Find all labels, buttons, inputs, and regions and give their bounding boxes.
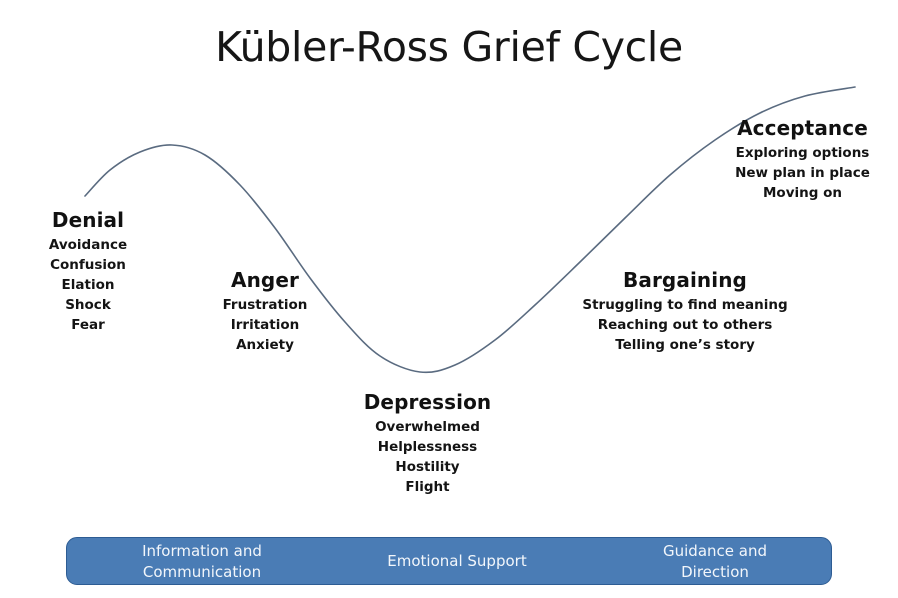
stage-anger-title: Anger (185, 270, 345, 290)
stage-bargaining-title: Bargaining (570, 270, 800, 290)
stage-item: Flight (340, 478, 515, 498)
support-segment-line: Direction (663, 562, 767, 583)
support-segment-line: Emotional Support (387, 551, 526, 572)
stage-item: Frustration (185, 296, 345, 316)
support-segment-emotional-support: Emotional Support (342, 538, 572, 586)
stage-item: Shock (8, 296, 168, 316)
support-segment-line: Guidance and (663, 541, 767, 562)
page-title: Kübler-Ross Grief Cycle (0, 24, 898, 71)
stage-acceptance-items: Exploring optionsNew plan in placeMoving… (710, 144, 895, 204)
stage-bargaining: Bargaining Struggling to find meaningRea… (570, 270, 800, 356)
stage-item: Anxiety (185, 336, 345, 356)
stage-acceptance: Acceptance Exploring optionsNew plan in … (710, 118, 895, 204)
stage-item: Reaching out to others (570, 316, 800, 336)
support-segment-label: Information andCommunication (142, 541, 262, 584)
support-segment-line: Information and (142, 541, 262, 562)
stage-item: Overwhelmed (340, 418, 515, 438)
stage-denial-items: AvoidanceConfusionElationShockFear (8, 236, 168, 336)
stage-depression: Depression OverwhelmedHelplessnessHostil… (340, 392, 515, 498)
support-segment-label: Emotional Support (387, 551, 526, 572)
support-segment-label: Guidance andDirection (663, 541, 767, 584)
stage-item: Irritation (185, 316, 345, 336)
support-bar: Information andCommunication Emotional S… (66, 537, 832, 585)
stage-item: New plan in place (710, 164, 895, 184)
stage-item: Avoidance (8, 236, 168, 256)
stage-item: Telling one’s story (570, 336, 800, 356)
support-segment-guidance-and-direction: Guidance andDirection (615, 538, 815, 586)
stage-depression-items: OverwhelmedHelplessnessHostilityFlight (340, 418, 515, 498)
support-segment-information-and-communication: Information andCommunication (87, 538, 317, 586)
stage-item: Confusion (8, 256, 168, 276)
stage-item: Exploring options (710, 144, 895, 164)
stage-item: Helplessness (340, 438, 515, 458)
stage-item: Struggling to find meaning (570, 296, 800, 316)
stage-item: Hostility (340, 458, 515, 478)
stage-item: Moving on (710, 184, 895, 204)
stage-depression-title: Depression (340, 392, 515, 412)
stage-item: Fear (8, 316, 168, 336)
stage-denial: Denial AvoidanceConfusionElationShockFea… (8, 210, 168, 336)
stage-anger: Anger FrustrationIrritationAnxiety (185, 270, 345, 356)
stage-acceptance-title: Acceptance (710, 118, 895, 138)
stage-item: Elation (8, 276, 168, 296)
support-segment-line: Communication (142, 562, 262, 583)
stage-denial-title: Denial (8, 210, 168, 230)
stage-bargaining-items: Struggling to find meaningReaching out t… (570, 296, 800, 356)
stage-anger-items: FrustrationIrritationAnxiety (185, 296, 345, 356)
grief-cycle-diagram: Kübler-Ross Grief Cycle Denial Avoidance… (0, 0, 898, 598)
